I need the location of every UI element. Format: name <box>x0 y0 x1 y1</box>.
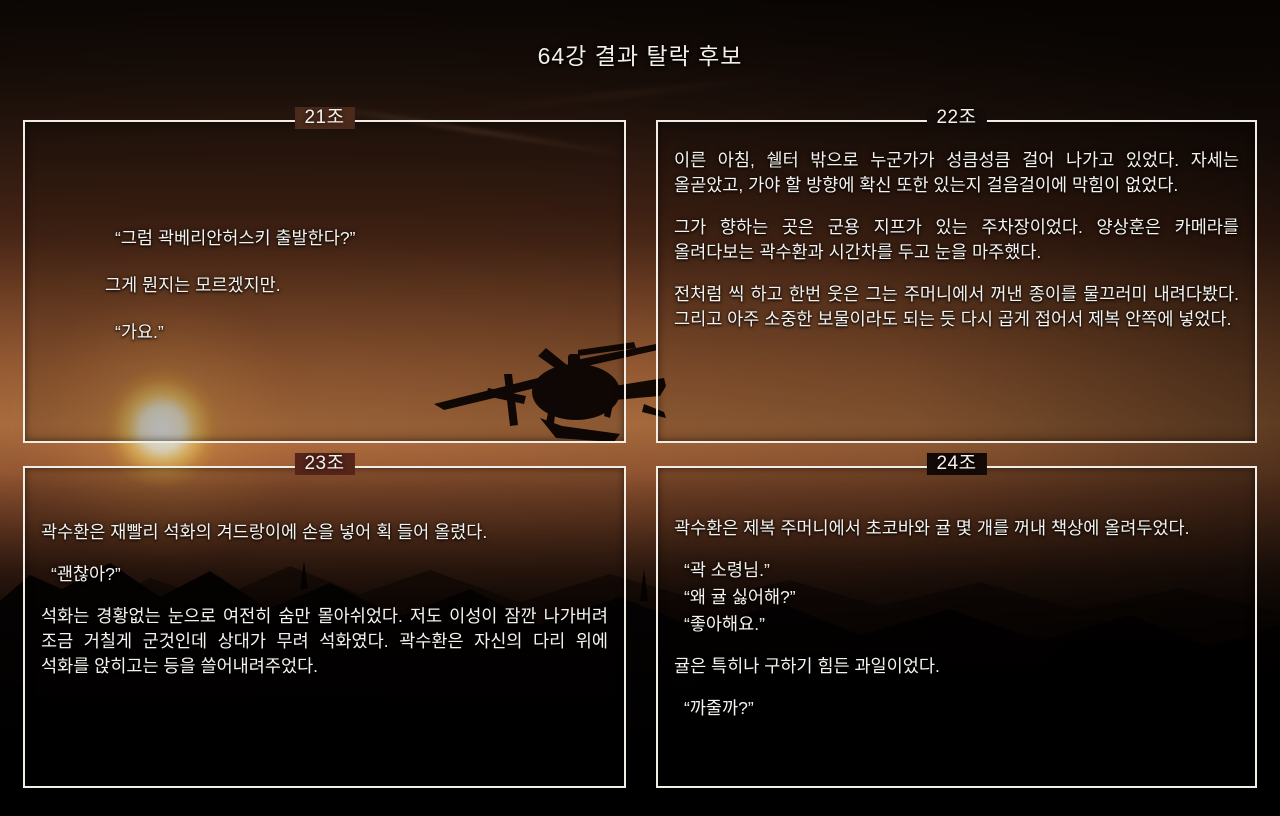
panel-21: 21조 “그럼 곽베리안허스키 출발한다?” 그게 뭔지는 모르겠지만. “가요… <box>23 120 626 443</box>
panel-23: 23조 곽수환은 재빨리 석화의 겨드랑이에 손을 넣어 획 들어 올렸다. “… <box>23 466 626 788</box>
page-title: 64강 결과 탈락 후보 <box>0 37 1280 71</box>
panel-body-24: 곽수환은 제복 주머니에서 초코바와 귤 몇 개를 꺼내 책상에 올려두었다. … <box>658 468 1255 786</box>
panel-24-paragraph: “까줄까?” <box>674 696 1239 721</box>
panel-22: 22조 이른 아침, 쉘터 밖으로 누군가가 성큼성큼 걸어 나가고 있었다. … <box>656 120 1257 443</box>
panel-23-paragraph: 곽수환은 재빨리 석화의 겨드랑이에 손을 넣어 획 들어 올렸다. <box>41 520 608 545</box>
panel-23-paragraph: 석화는 경황없는 눈으로 여전히 숨만 몰아쉬었다. 저도 이성이 잠깐 나가버… <box>41 604 608 679</box>
panel-24-paragraph: “좋아해요.” <box>674 612 1239 637</box>
content-root: 64강 결과 탈락 후보 21조 “그럼 곽베리안허스키 출발한다?” 그게 뭔… <box>0 0 1280 816</box>
panel-body-22: 이른 아침, 쉘터 밖으로 누군가가 성큼성큼 걸어 나가고 있었다. 자세는 … <box>658 122 1255 441</box>
panel-body-23: 곽수환은 재빨리 석화의 겨드랑이에 손을 넣어 획 들어 올렸다. “괜찮아?… <box>25 468 624 786</box>
panel-24-paragraph: “왜 귤 싫어해?” <box>674 585 1239 610</box>
panel-24-paragraph: “곽 소령님.” <box>674 558 1239 583</box>
panel-22-paragraph: 그가 향하는 곳은 군용 지프가 있는 주차장이었다. 양상훈은 카메라를 올려… <box>674 215 1239 265</box>
panel-body-21: “그럼 곽베리안허스키 출발한다?” 그게 뭔지는 모르겠지만. “가요.” <box>25 122 624 441</box>
panel-21-paragraph: “가요.” <box>105 320 606 345</box>
panel-22-paragraph: 이른 아침, 쉘터 밖으로 누군가가 성큼성큼 걸어 나가고 있었다. 자세는 … <box>674 148 1239 198</box>
panel-22-paragraph: 전처럼 씩 하고 한번 웃은 그는 주머니에서 꺼낸 종이를 물끄러미 내려다봤… <box>674 282 1239 332</box>
panel-24-paragraph: 곽수환은 제복 주머니에서 초코바와 귤 몇 개를 꺼내 책상에 올려두었다. <box>674 516 1239 541</box>
panel-21-paragraph: 그게 뭔지는 모르겠지만. <box>105 273 606 298</box>
panel-23-paragraph: “괜찮아?” <box>41 562 608 587</box>
screenshot-canvas: 64강 결과 탈락 후보 21조 “그럼 곽베리안허스키 출발한다?” 그게 뭔… <box>0 0 1280 816</box>
panel-24: 24조 곽수환은 제복 주머니에서 초코바와 귤 몇 개를 꺼내 책상에 올려두… <box>656 466 1257 788</box>
panel-24-paragraph: 귤은 특히나 구하기 힘든 과일이었다. <box>674 654 1239 679</box>
panel-21-paragraph: “그럼 곽베리안허스키 출발한다?” <box>105 226 606 251</box>
